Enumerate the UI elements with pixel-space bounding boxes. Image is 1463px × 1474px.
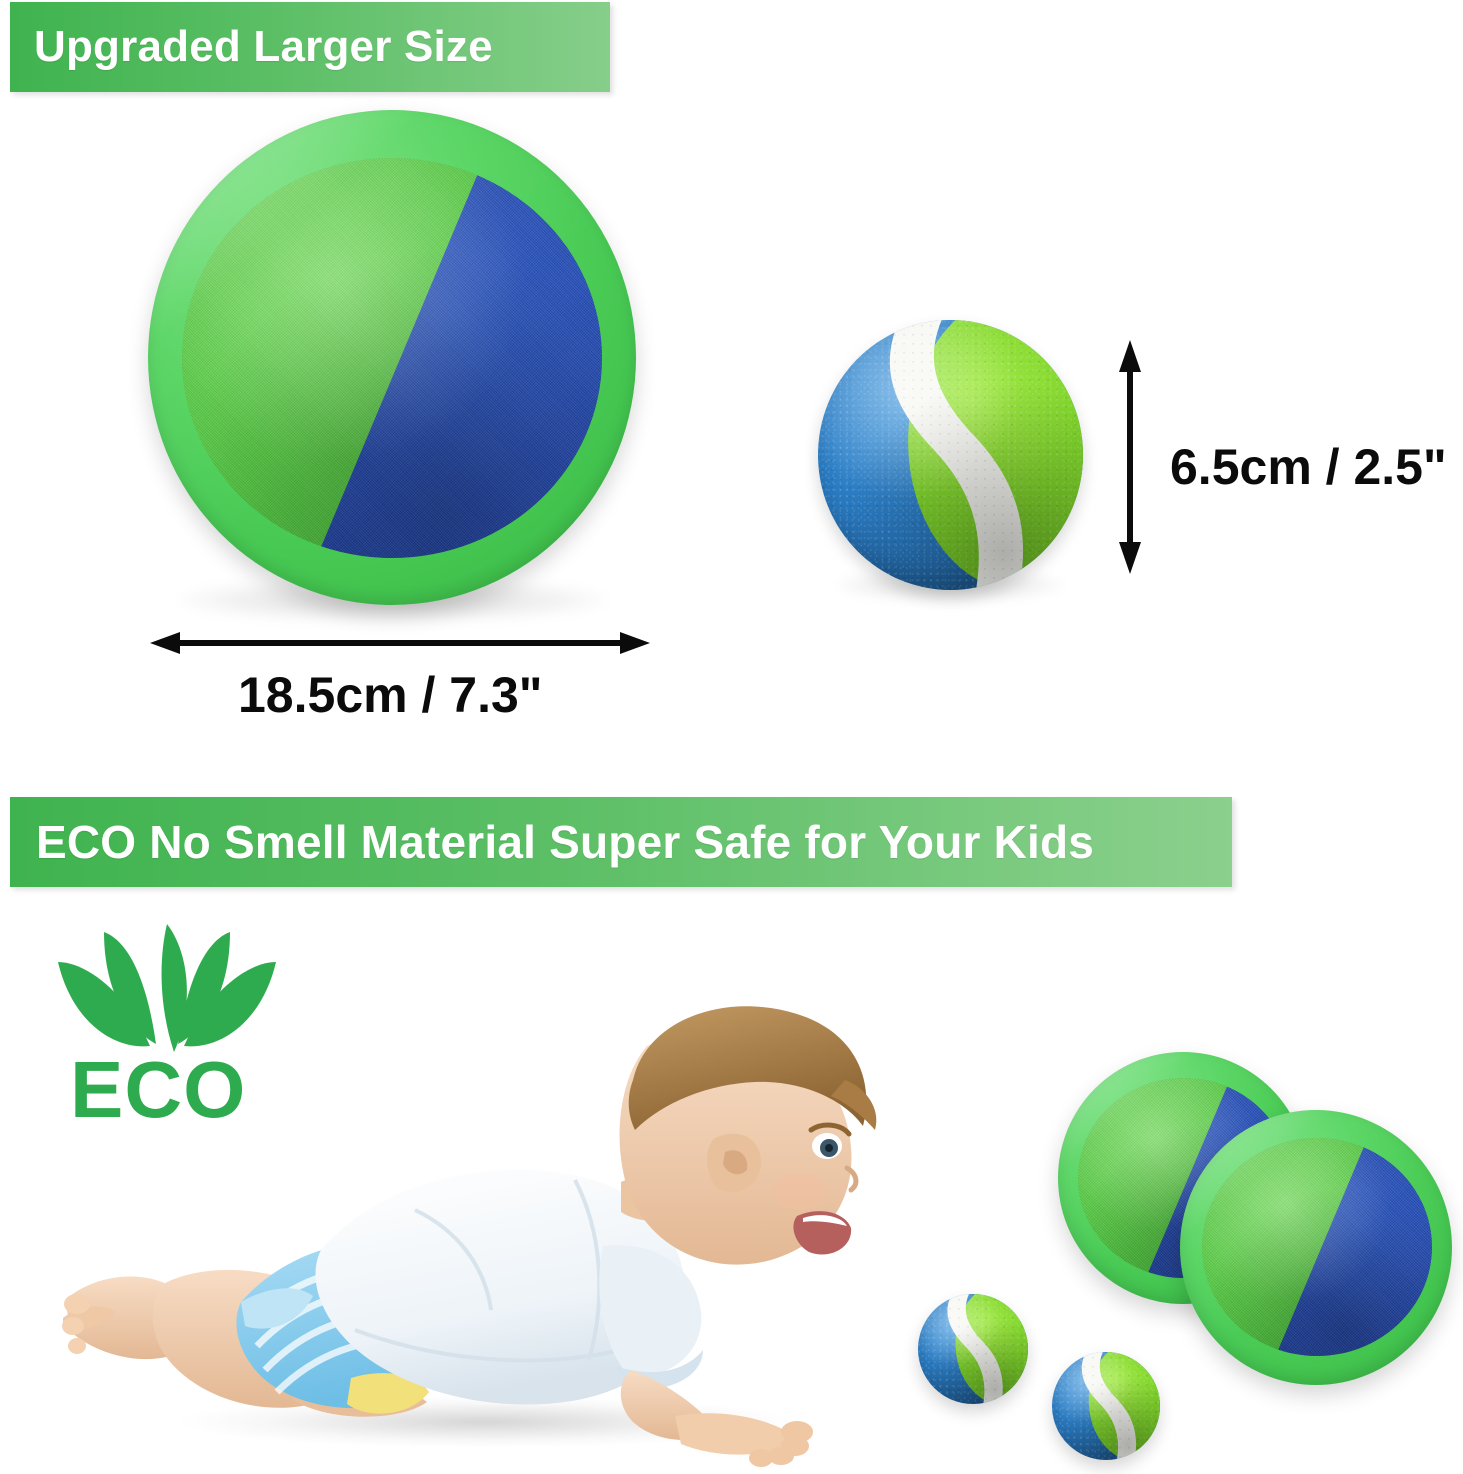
paddle-width-label: 18.5cm / 7.3" <box>238 666 542 724</box>
crawling-baby-photo <box>55 930 895 1470</box>
ball-highlight <box>818 320 1083 590</box>
paddle-width-arrow <box>150 628 650 658</box>
banner-upgraded-size-text: Upgraded Larger Size <box>34 22 493 72</box>
ball-height-label: 6.5cm / 2.5" <box>1170 438 1447 496</box>
banner-eco-material: ECO No Smell Material Super Safe for You… <box>10 797 1232 887</box>
banner-eco-material-text: ECO No Smell Material Super Safe for You… <box>36 815 1094 869</box>
paddle-face-shading <box>182 158 602 558</box>
ball-highlight <box>918 1294 1028 1404</box>
banner-upgraded-size: Upgraded Larger Size <box>10 2 610 92</box>
paddle-face-shading <box>1202 1138 1432 1356</box>
catch-paddle-front <box>1180 1110 1452 1385</box>
catch-ball-small-1 <box>918 1294 1028 1404</box>
ball-highlight <box>1052 1352 1160 1460</box>
ball-height-arrow <box>1113 340 1147 574</box>
catch-ball-small-2 <box>1052 1352 1160 1460</box>
paddle-velcro-face <box>182 158 602 558</box>
paddle-velcro-face <box>1202 1138 1432 1356</box>
catch-ball-main <box>818 320 1083 590</box>
catch-paddle-main <box>148 110 636 605</box>
